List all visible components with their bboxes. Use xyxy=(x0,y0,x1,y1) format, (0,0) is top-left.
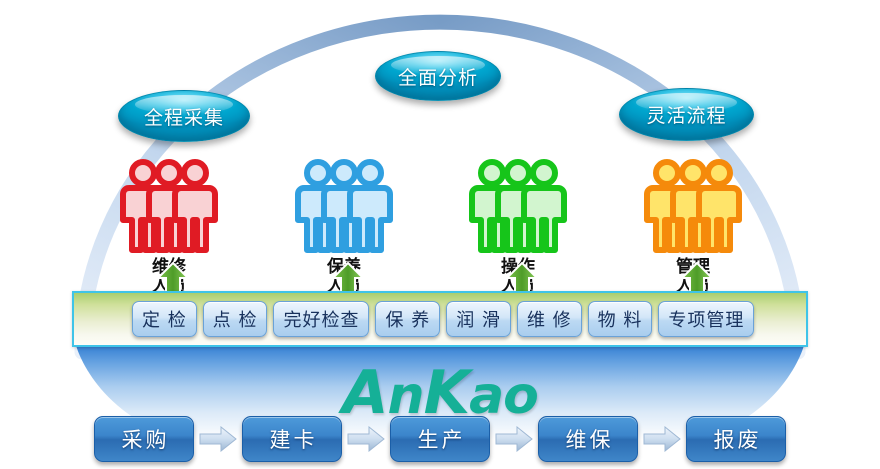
module-chip-dingjian[interactable]: 定 检 xyxy=(132,301,197,337)
module-chip-weixiu[interactable]: 维 修 xyxy=(517,301,582,337)
flow-step-jianka[interactable]: 建卡 xyxy=(242,416,342,462)
right-arrow-icon xyxy=(347,426,385,452)
module-chip-baoyang[interactable]: 保 养 xyxy=(375,301,440,337)
three-people-icon xyxy=(288,158,400,256)
module-chip-dianjian[interactable]: 点 检 xyxy=(203,301,268,337)
three-people-icon xyxy=(637,158,749,256)
three-people-icon xyxy=(113,158,225,256)
module-chip-zhuanxiangguanli[interactable]: 专项管理 xyxy=(658,301,754,337)
callout-linghuo[interactable]: 灵活流程 xyxy=(619,88,754,141)
callout-quanmian[interactable]: 全面分析 xyxy=(375,51,501,101)
flow-step-shengchan[interactable]: 生产 xyxy=(390,416,490,462)
module-chip-wanhaojiancha[interactable]: 完好检查 xyxy=(273,301,369,337)
callout-quancheng[interactable]: 全程采集 xyxy=(118,90,250,142)
diagram-canvas: 全程采集 全面分析 灵活流程 维修 人员 xyxy=(0,0,880,469)
modules-band: 定 检 点 检 完好检查 保 养 润 滑 维 修 物 料 专项管理 xyxy=(72,291,808,347)
module-chip-runhua[interactable]: 润 滑 xyxy=(446,301,511,337)
lifecycle-flow: 采购 建卡 生产 维保 报废 xyxy=(0,413,880,465)
callout-label: 灵活流程 xyxy=(646,101,726,128)
right-arrow-icon xyxy=(643,426,681,452)
flow-step-baofei[interactable]: 报废 xyxy=(686,416,786,462)
three-people-icon xyxy=(462,158,574,256)
right-arrow-icon xyxy=(199,426,237,452)
callout-label: 全面分析 xyxy=(398,63,478,90)
right-arrow-icon xyxy=(495,426,533,452)
module-chip-wuliao[interactable]: 物 料 xyxy=(588,301,653,337)
modules-band-inner: 定 检 点 检 完好检查 保 养 润 滑 维 修 物 料 专项管理 xyxy=(74,293,806,345)
callout-label: 全程采集 xyxy=(144,103,224,130)
flow-step-caigou[interactable]: 采购 xyxy=(94,416,194,462)
flow-step-weibao[interactable]: 维保 xyxy=(538,416,638,462)
